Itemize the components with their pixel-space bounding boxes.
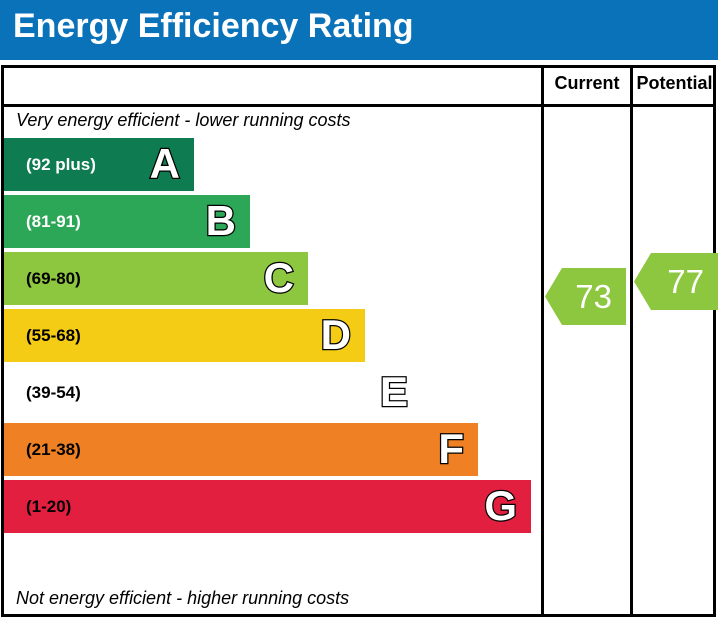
band-letter-e: E — [380, 371, 408, 413]
title-banner: Energy Efficiency Rating — [0, 0, 718, 60]
current-column-divider — [541, 65, 544, 617]
potential-column-divider — [630, 65, 633, 617]
band-range-label: (55-68) — [26, 326, 81, 346]
rating-band-a: (92 plus)A — [4, 138, 194, 191]
band-letter-b: B — [206, 200, 236, 242]
column-header-potential: Potential — [633, 73, 716, 94]
rating-band-b: (81-91)B — [4, 195, 250, 248]
band-range-label: (69-80) — [26, 269, 81, 289]
current-rating-arrow: 73 — [545, 268, 626, 325]
rating-band-f: (21-38)F — [4, 423, 478, 476]
header-divider — [1, 104, 716, 107]
energy-efficiency-rating-chart: Energy Efficiency Rating Current Potenti… — [0, 0, 718, 619]
potential-rating-value: 77 — [667, 265, 704, 298]
rating-band-d: (55-68)D — [4, 309, 365, 362]
caption-bottom: Not energy efficient - higher running co… — [16, 588, 349, 609]
band-letter-a: A — [150, 143, 180, 185]
column-header-current: Current — [544, 73, 630, 94]
rating-band-e: (39-54)E — [4, 366, 422, 419]
band-range-label: (1-20) — [26, 497, 71, 517]
page-title: Energy Efficiency Rating — [13, 7, 414, 46]
band-letter-f: F — [438, 428, 464, 470]
band-letter-g: G — [484, 485, 517, 527]
rating-band-c: (69-80)C — [4, 252, 308, 305]
band-range-label: (81-91) — [26, 212, 81, 232]
band-letter-d: D — [321, 314, 351, 356]
caption-top: Very energy efficient - lower running co… — [16, 110, 351, 131]
band-range-label: (21-38) — [26, 440, 81, 460]
band-range-label: (92 plus) — [26, 155, 96, 175]
potential-rating-arrow: 77 — [634, 253, 718, 310]
band-range-label: (39-54) — [26, 383, 81, 403]
band-letter-c: C — [264, 257, 294, 299]
current-rating-value: 73 — [575, 280, 612, 313]
rating-band-g: (1-20)G — [4, 480, 531, 533]
